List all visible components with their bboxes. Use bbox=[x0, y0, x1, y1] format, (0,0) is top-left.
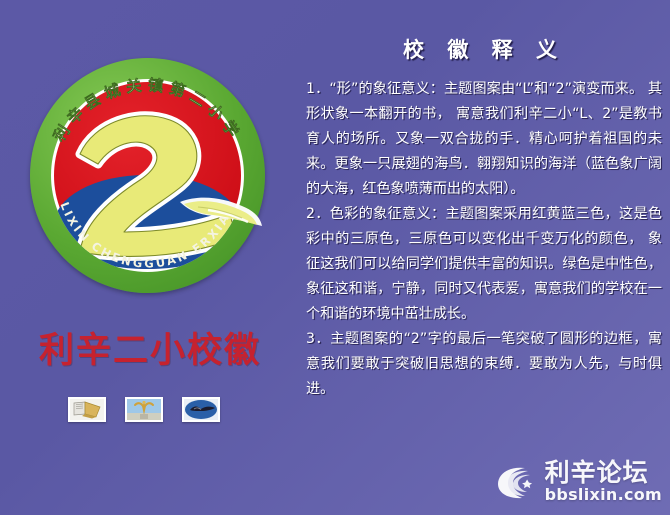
forum-watermark: 利辛论坛 bbslixin.com bbox=[495, 460, 662, 503]
emblem-panel: 利辛县城关镇第二小学 LIXIN CHENGGUAN ERXIAO 利辛二小校 bbox=[0, 0, 300, 515]
flying-bird-icon bbox=[184, 399, 218, 420]
emblem-inner-disc bbox=[51, 79, 244, 272]
statue-monument-icon bbox=[127, 399, 161, 420]
paragraph-1: 1．“形”的象征意义：主题图案由“L”和“2”演变而来。 其形状象一本翻开的书，… bbox=[306, 77, 662, 202]
forum-swoosh-logo-icon bbox=[495, 462, 541, 502]
thumbnail-flying-bird[interactable] bbox=[182, 397, 220, 422]
school-emblem: 利辛县城关镇第二小学 LIXIN CHENGGUAN ERXIAO bbox=[30, 58, 265, 293]
thumbnail-statue-monument[interactable] bbox=[125, 397, 163, 422]
emblem-yellow-swoosh bbox=[54, 82, 241, 269]
explanation-panel: 校 徽 释 义 1．“形”的象征意义：主题图案由“L”和“2”演变而来。 其形状… bbox=[306, 34, 662, 454]
open-book-icon bbox=[70, 399, 104, 420]
paragraph-2: 2．色彩的象征意义：主题图案采用红黄蓝三色，这是色彩中的三原色，三原色可以变化出… bbox=[306, 202, 662, 327]
thumbnail-open-book[interactable] bbox=[68, 397, 106, 422]
watermark-text: 利辛论坛 bbslixin.com bbox=[545, 460, 662, 503]
emblem-caption: 利辛二小校徽 bbox=[0, 322, 300, 373]
paragraph-3: 3．主题图案的“2”字的最后一笔突破了圆形的边框，寓意我们要敢于突破旧思想的束缚… bbox=[306, 327, 662, 402]
slide-canvas: 利辛县城关镇第二小学 LIXIN CHENGGUAN ERXIAO 利辛二小校 bbox=[0, 0, 670, 515]
watermark-title: 利辛论坛 bbox=[545, 460, 662, 485]
thumbnail-strip bbox=[68, 397, 220, 422]
panel-title: 校 徽 释 义 bbox=[306, 34, 662, 64]
watermark-url: bbslixin.com bbox=[545, 487, 662, 503]
